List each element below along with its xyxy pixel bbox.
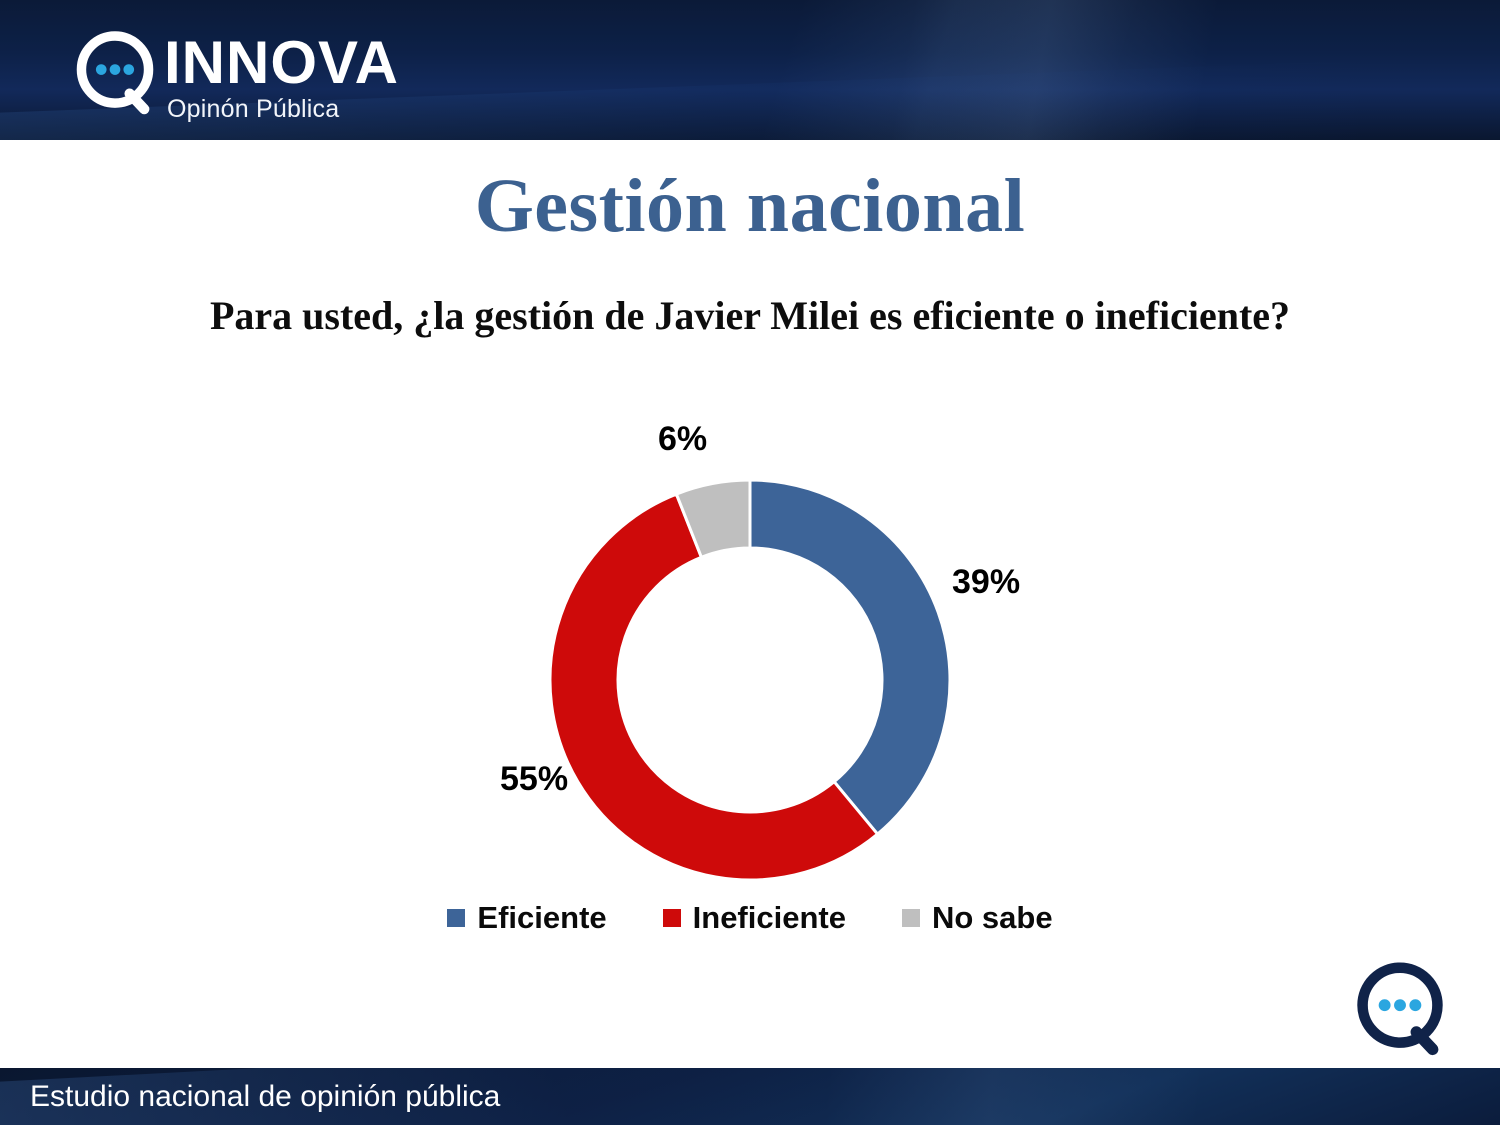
legend-label-no-sabe: No sabe [932,900,1053,936]
footer-text: Estudio nacional de opinión pública [30,1080,500,1114]
data-label-no-sabe: 6% [658,420,707,459]
donut-chart: 6% 39% 55% Eficiente Ineficiente No sabe [390,400,1110,980]
legend-item-eficiente[interactable]: Eficiente [447,900,606,936]
chart-legend: Eficiente Ineficiente No sabe [390,900,1110,936]
brand-logo: INNOVA Opinón Pública [72,28,399,124]
donut-slice[interactable] [750,480,950,834]
page-title: Gestión nacional [0,163,1500,250]
legend-item-ineficiente[interactable]: Ineficiente [663,900,846,936]
legend-swatch-eficiente [447,909,465,927]
donut-graphic [525,455,975,905]
legend-swatch-no-sabe [902,909,920,927]
survey-question: Para usted, ¿la gestión de Javier Milei … [0,292,1500,339]
data-label-ineficiente: 55% [500,760,568,799]
legend-label-ineficiente: Ineficiente [693,900,846,936]
watermark-speech-bubble-q-icon [1352,961,1448,1057]
legend-item-no-sabe[interactable]: No sabe [902,900,1053,936]
brand-tagline: Opinón Pública [167,95,399,124]
footer-band: Estudio nacional de opinión pública [0,1068,1500,1125]
data-label-eficiente: 39% [952,563,1020,602]
legend-swatch-ineficiente [663,909,681,927]
speech-bubble-q-icon [72,30,158,116]
brand-name: INNOVA [164,34,399,91]
legend-label-eficiente: Eficiente [477,900,606,936]
